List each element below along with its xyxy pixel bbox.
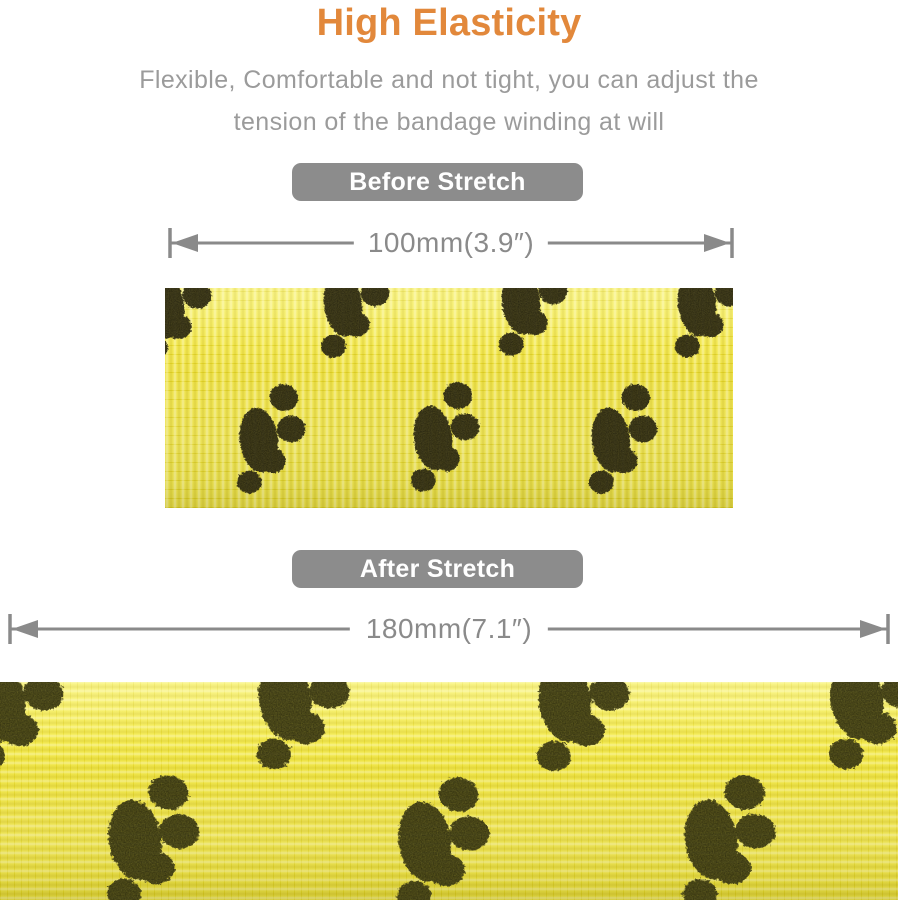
dimension-label-before: 100mm(3.9″): [354, 222, 548, 264]
paw-print-pattern-after-icon: [0, 682, 898, 900]
subtitle-line-2: tension of the bandage winding at will: [49, 101, 849, 143]
photo-bandage-after-stretch: [0, 682, 898, 900]
page-title: High Elasticity: [0, 0, 898, 46]
fabric-surface-after: [0, 682, 898, 900]
badge-before-stretch: Before Stretch: [292, 163, 583, 201]
infographic-page: High Elasticity Flexible, Comfortable an…: [0, 0, 898, 910]
subtitle-line-1: Flexible, Comfortable and not tight, you…: [49, 59, 849, 101]
paw-print-pattern-before-icon: [165, 288, 733, 508]
page-subtitle: Flexible, Comfortable and not tight, you…: [49, 59, 849, 143]
photo-bandage-before-stretch: [165, 288, 733, 508]
dimension-label-after: 180mm(7.1″): [350, 608, 548, 650]
fabric-surface-before: [165, 288, 733, 508]
dimension-line-after: 180mm(7.1″): [8, 608, 890, 650]
dimension-line-before: 100mm(3.9″): [168, 222, 734, 264]
badge-after-stretch: After Stretch: [292, 550, 583, 588]
